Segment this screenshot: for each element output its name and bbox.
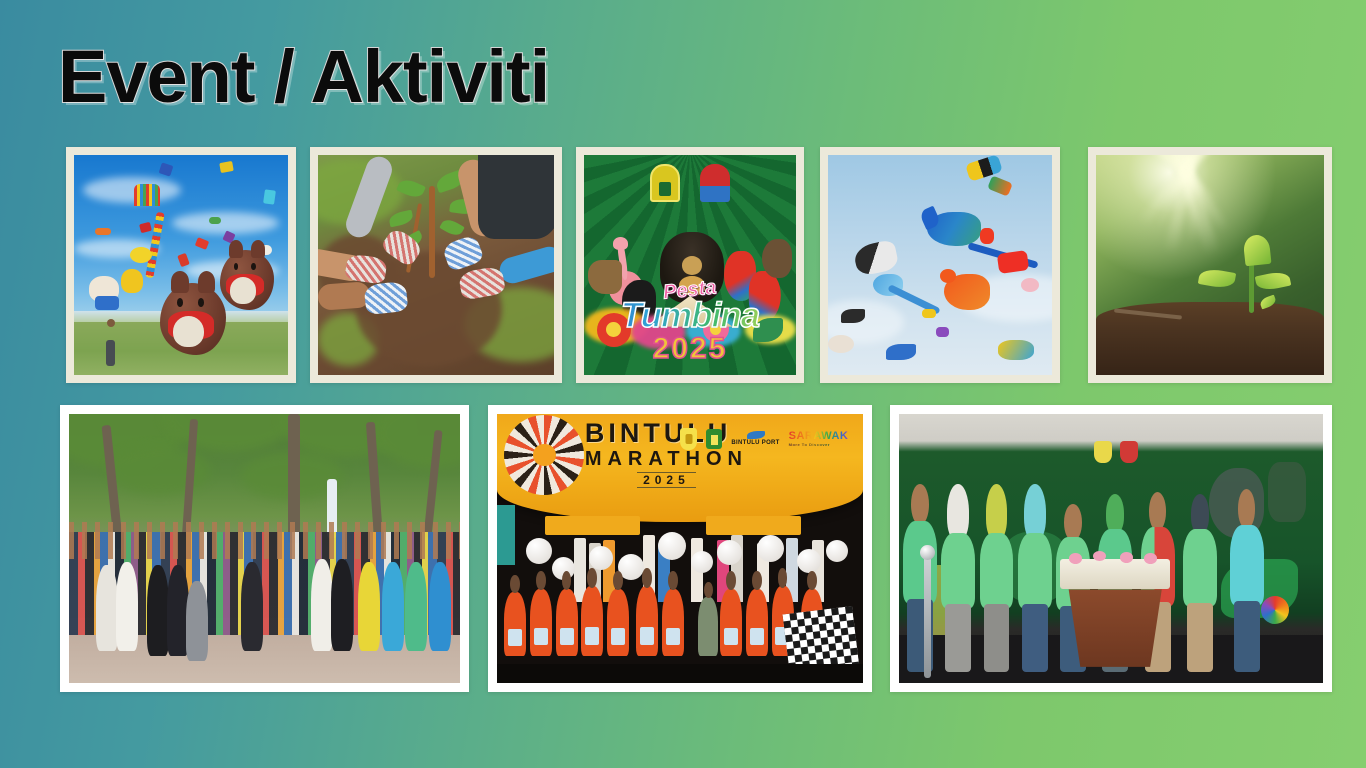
sarawak-tagline: More To Discover	[789, 442, 849, 447]
photo-cake-cutting-ceremony	[899, 414, 1323, 683]
photo-bintulu-marathon-2025: BINTULU MARATHON 2025 BINTULU PORT SARAW…	[497, 414, 863, 683]
bintulu-port-label: BINTULU PORT	[731, 440, 779, 446]
marathon-sponsor-logos: BINTULU PORT SARAWAK More To Discover	[680, 428, 848, 450]
swoosh-icon	[747, 431, 765, 439]
photo-seedling-soil-sunlight	[1096, 155, 1324, 375]
marathon-arch: BINTULU MARATHON 2025 BINTULU PORT SARAW…	[497, 414, 863, 522]
person	[941, 484, 975, 672]
marathon-sunburst-icon	[504, 415, 584, 495]
poster-logos	[584, 164, 796, 202]
state-crest-icon	[1094, 441, 1112, 463]
ceremony-cake	[1060, 559, 1170, 667]
gallery-item-park-group-photo[interactable]	[60, 405, 469, 692]
gallery-item-tree-planting-gloves[interactable]	[310, 147, 562, 383]
poster-line-tumbina: Tumbina	[584, 296, 796, 336]
council-logo-icon	[1120, 441, 1138, 463]
gallery-item-cake-cutting-ceremony[interactable]	[890, 405, 1332, 692]
state-crest-icon	[680, 428, 697, 450]
photo-pesta-tumbina-2025-poster: Pesta Tumbina 2025	[584, 155, 796, 375]
state-crest-icon	[650, 164, 680, 202]
gallery-item-pesta-tumbina-2025-poster[interactable]: Pesta Tumbina 2025	[576, 147, 804, 383]
bintulu-port-logo: BINTULU PORT	[731, 431, 779, 446]
gallery-item-seedling-soil-sunlight[interactable]	[1088, 147, 1332, 383]
gallery-item-dragon-kites-sky[interactable]	[820, 147, 1060, 383]
marathon-title-marathon: MARATHON	[585, 449, 748, 469]
sarawak-logo: SARAWAK More To Discover	[789, 430, 849, 447]
gallery-item-bintulu-marathon-2025[interactable]: BINTULU MARATHON 2025 BINTULU PORT SARAW…	[488, 405, 872, 692]
photo-kite-festival-squirrel	[74, 155, 288, 375]
sarawak-label: SARAWAK	[789, 430, 849, 442]
person	[1018, 484, 1052, 672]
person	[1230, 473, 1264, 672]
stanchion-post	[924, 554, 931, 678]
person	[980, 484, 1014, 672]
page-title: Event / Aktiviti	[58, 38, 549, 116]
person	[903, 468, 937, 672]
backdrop-logos	[1094, 441, 1138, 463]
poster-line-year: 2025	[584, 332, 796, 366]
photo-tree-planting-gloves	[318, 155, 554, 375]
poster-title-block: Pesta Tumbina 2025	[584, 279, 796, 366]
photo-park-group-photo	[69, 414, 460, 683]
council-logo-icon	[706, 429, 722, 449]
marathon-title-year: 2025	[637, 472, 696, 488]
gallery-item-kite-festival-squirrel[interactable]	[66, 147, 296, 383]
council-logo-icon	[700, 164, 730, 202]
photo-dragon-kites-sky	[828, 155, 1052, 375]
person	[1183, 479, 1217, 673]
